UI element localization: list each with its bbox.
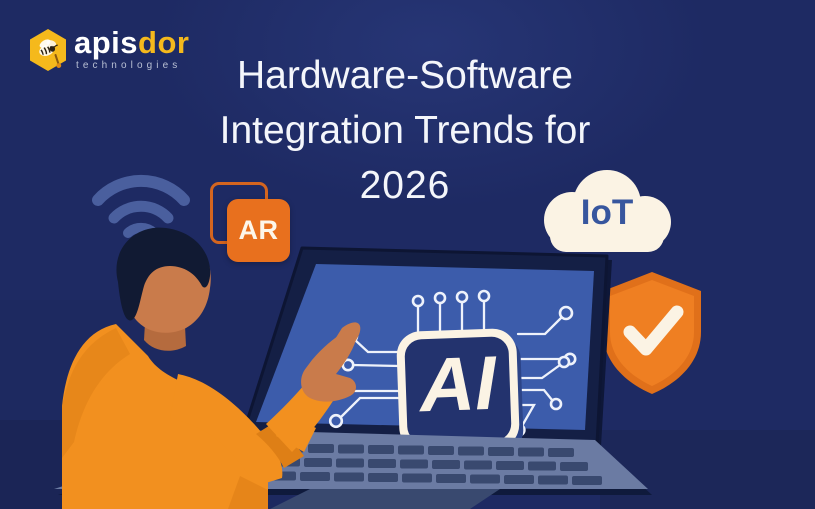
banner-canvas: apisdor technologies Hardware-Software I… (0, 0, 815, 509)
person-pointing-illustration (60, 228, 360, 509)
brand-tagline: technologies (76, 60, 181, 71)
bee-hexagon-icon (28, 28, 68, 72)
iot-label: IoT (532, 193, 682, 233)
title-line-2: Integration Trends for (170, 103, 640, 158)
title-line-1: Hardware-Software (170, 48, 640, 103)
ai-chip-label: AI (416, 341, 499, 429)
brand-word-apis: apis (74, 25, 138, 60)
